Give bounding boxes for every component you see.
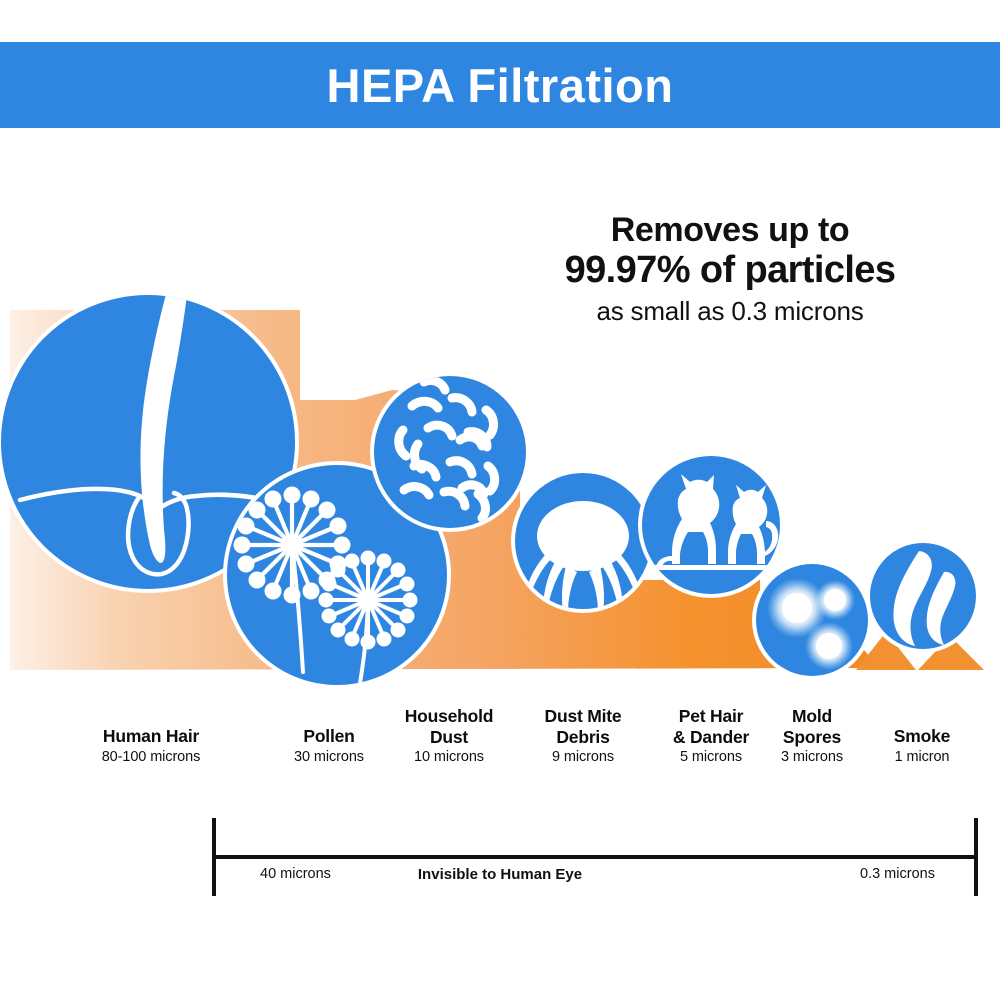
label-size: 3 microns [757,747,867,769]
label-name: Smoke [862,726,982,747]
infographic-page: HEPA Filtration Removes up to 99.97% of … [0,0,1000,1000]
scalebar-cap-left [212,818,216,896]
scalebar-label-right: 0.3 microns [860,866,935,882]
label-household-dust: Household Dust 10 microns [379,706,519,769]
label-name: Pollen [264,726,394,747]
particle-labels-row: Human Hair 80-100 microns Pollen 30 micr… [0,712,1000,802]
label-smoke: Smoke 1 micron [862,726,982,768]
label-size: 30 microns [264,747,394,769]
label-pollen: Pollen 30 microns [264,726,394,768]
label-size: 80-100 microns [61,747,241,769]
particle-circle-household-dust [370,372,530,532]
label-dust-mite-debris: Dust Mite Debris 9 microns [518,706,648,769]
label-name-line2: Debris [518,727,648,748]
scalebar-label-center: Invisible to Human Eye [418,866,582,883]
label-size: 1 micron [862,747,982,769]
particle-size-illustration [0,0,1000,1000]
scalebar-label-left: 40 microns [260,866,331,882]
label-size: 9 microns [518,747,648,769]
label-name-line1: Mold [757,706,867,727]
label-name-line1: Household [379,706,519,727]
scalebar-line [212,855,978,859]
label-name-line2: Spores [757,727,867,748]
label-human-hair: Human Hair 80-100 microns [61,726,241,768]
label-mold-spores: Mold Spores 3 microns [757,706,867,769]
label-name-line1: Dust Mite [518,706,648,727]
label-size: 10 microns [379,747,519,769]
label-name-line2: Dust [379,727,519,748]
particle-circle-mold-spores [752,560,872,680]
particle-circle-smoke [866,539,980,653]
particle-circle-pet-hair [638,452,784,598]
scalebar-cap-right [974,818,978,896]
label-name: Human Hair [61,726,241,747]
